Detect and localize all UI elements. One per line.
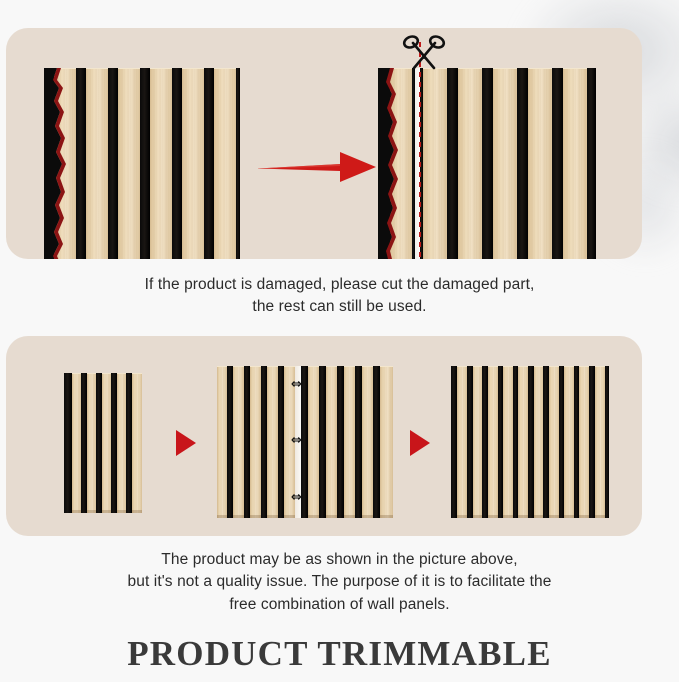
wood-slat bbox=[117, 373, 126, 513]
wood-slat bbox=[86, 68, 108, 259]
wood-slat bbox=[518, 366, 528, 518]
wood-slat bbox=[132, 373, 142, 513]
section-two-card: ⇔ ⇔ ⇔ bbox=[6, 336, 642, 536]
section-one-card bbox=[6, 28, 642, 259]
caption-one-line-2: the rest can still be used. bbox=[0, 296, 679, 318]
wood-slat bbox=[534, 366, 544, 518]
wood-slat bbox=[233, 366, 244, 518]
wood-slat bbox=[457, 366, 467, 518]
caption-two-line-2: but it's not a quality issue. The purpos… bbox=[0, 571, 679, 593]
wood-slat bbox=[493, 68, 517, 259]
long-right-arrow-icon bbox=[258, 144, 380, 190]
wood-slat bbox=[579, 366, 589, 518]
slat-groove bbox=[108, 68, 118, 259]
wood-slat bbox=[326, 366, 337, 518]
slat-groove bbox=[587, 68, 596, 259]
caption-two: The product may be as shown in the pictu… bbox=[0, 549, 679, 616]
wood-slat bbox=[595, 366, 605, 518]
wood-slat bbox=[217, 366, 227, 518]
wood-slat bbox=[549, 366, 559, 518]
scissors-icon bbox=[402, 35, 446, 75]
caption-two-line-1: The product may be as shown in the pictu… bbox=[0, 549, 679, 571]
two-panels-joined-right-half bbox=[301, 366, 393, 518]
slat-groove bbox=[172, 68, 182, 259]
wood-slat bbox=[458, 68, 482, 259]
slat-groove bbox=[301, 366, 308, 518]
torn-damage-edge-icon bbox=[378, 68, 410, 259]
wood-slat bbox=[118, 68, 140, 259]
slat-groove bbox=[355, 366, 362, 518]
wood-slat bbox=[488, 366, 498, 518]
two-panels-joined-left-half bbox=[217, 366, 295, 518]
wide-wall-panel bbox=[451, 366, 609, 518]
wood-slat bbox=[344, 366, 355, 518]
slat-groove bbox=[319, 366, 326, 518]
wood-slat bbox=[563, 68, 587, 259]
slat-groove bbox=[236, 68, 240, 259]
slat-groove bbox=[482, 68, 493, 259]
slat-groove bbox=[447, 68, 458, 259]
wood-slat bbox=[214, 68, 236, 259]
triangle-right-arrow-icon bbox=[410, 430, 430, 456]
wood-slat bbox=[564, 366, 574, 518]
wood-slat bbox=[473, 366, 483, 518]
slat-groove bbox=[140, 68, 150, 259]
caption-one: If the product is damaged, please cut th… bbox=[0, 274, 679, 319]
panel-with-cut-line bbox=[378, 68, 602, 259]
slat-groove bbox=[337, 366, 344, 518]
wood-slat bbox=[362, 366, 373, 518]
page-headline: PRODUCT TRIMMABLE bbox=[0, 634, 679, 674]
wood-slat bbox=[308, 366, 319, 518]
slat-groove bbox=[373, 366, 380, 518]
wood-slat bbox=[72, 373, 81, 513]
double-arrow-seam-icon: ⇔ bbox=[291, 378, 302, 391]
wood-slat bbox=[250, 366, 261, 518]
double-arrow-seam-icon: ⇔ bbox=[291, 434, 302, 447]
caption-one-line-1: If the product is damaged, please cut th… bbox=[0, 274, 679, 296]
slat-groove bbox=[204, 68, 214, 259]
wood-slat bbox=[102, 373, 111, 513]
wood-slat bbox=[182, 68, 204, 259]
torn-damage-edge-icon bbox=[44, 68, 78, 259]
triangle-right-arrow-icon bbox=[176, 430, 196, 456]
double-arrow-seam-icon: ⇔ bbox=[291, 491, 302, 504]
small-wall-panel bbox=[64, 373, 142, 513]
wood-slat bbox=[503, 366, 513, 518]
damaged-wood-slat-panel bbox=[44, 68, 240, 259]
wood-slat bbox=[423, 68, 447, 259]
slat-groove bbox=[64, 373, 72, 513]
wood-slat bbox=[150, 68, 172, 259]
wood-slat bbox=[87, 373, 96, 513]
slat-groove bbox=[605, 366, 609, 518]
caption-two-line-3: free combination of wall panels. bbox=[0, 594, 679, 616]
wood-slat bbox=[528, 68, 552, 259]
slat-groove bbox=[517, 68, 528, 259]
slat-groove bbox=[552, 68, 563, 259]
wood-slat bbox=[380, 366, 393, 518]
wood-slat bbox=[267, 366, 278, 518]
infographic-page: If the product is damaged, please cut th… bbox=[0, 0, 679, 682]
